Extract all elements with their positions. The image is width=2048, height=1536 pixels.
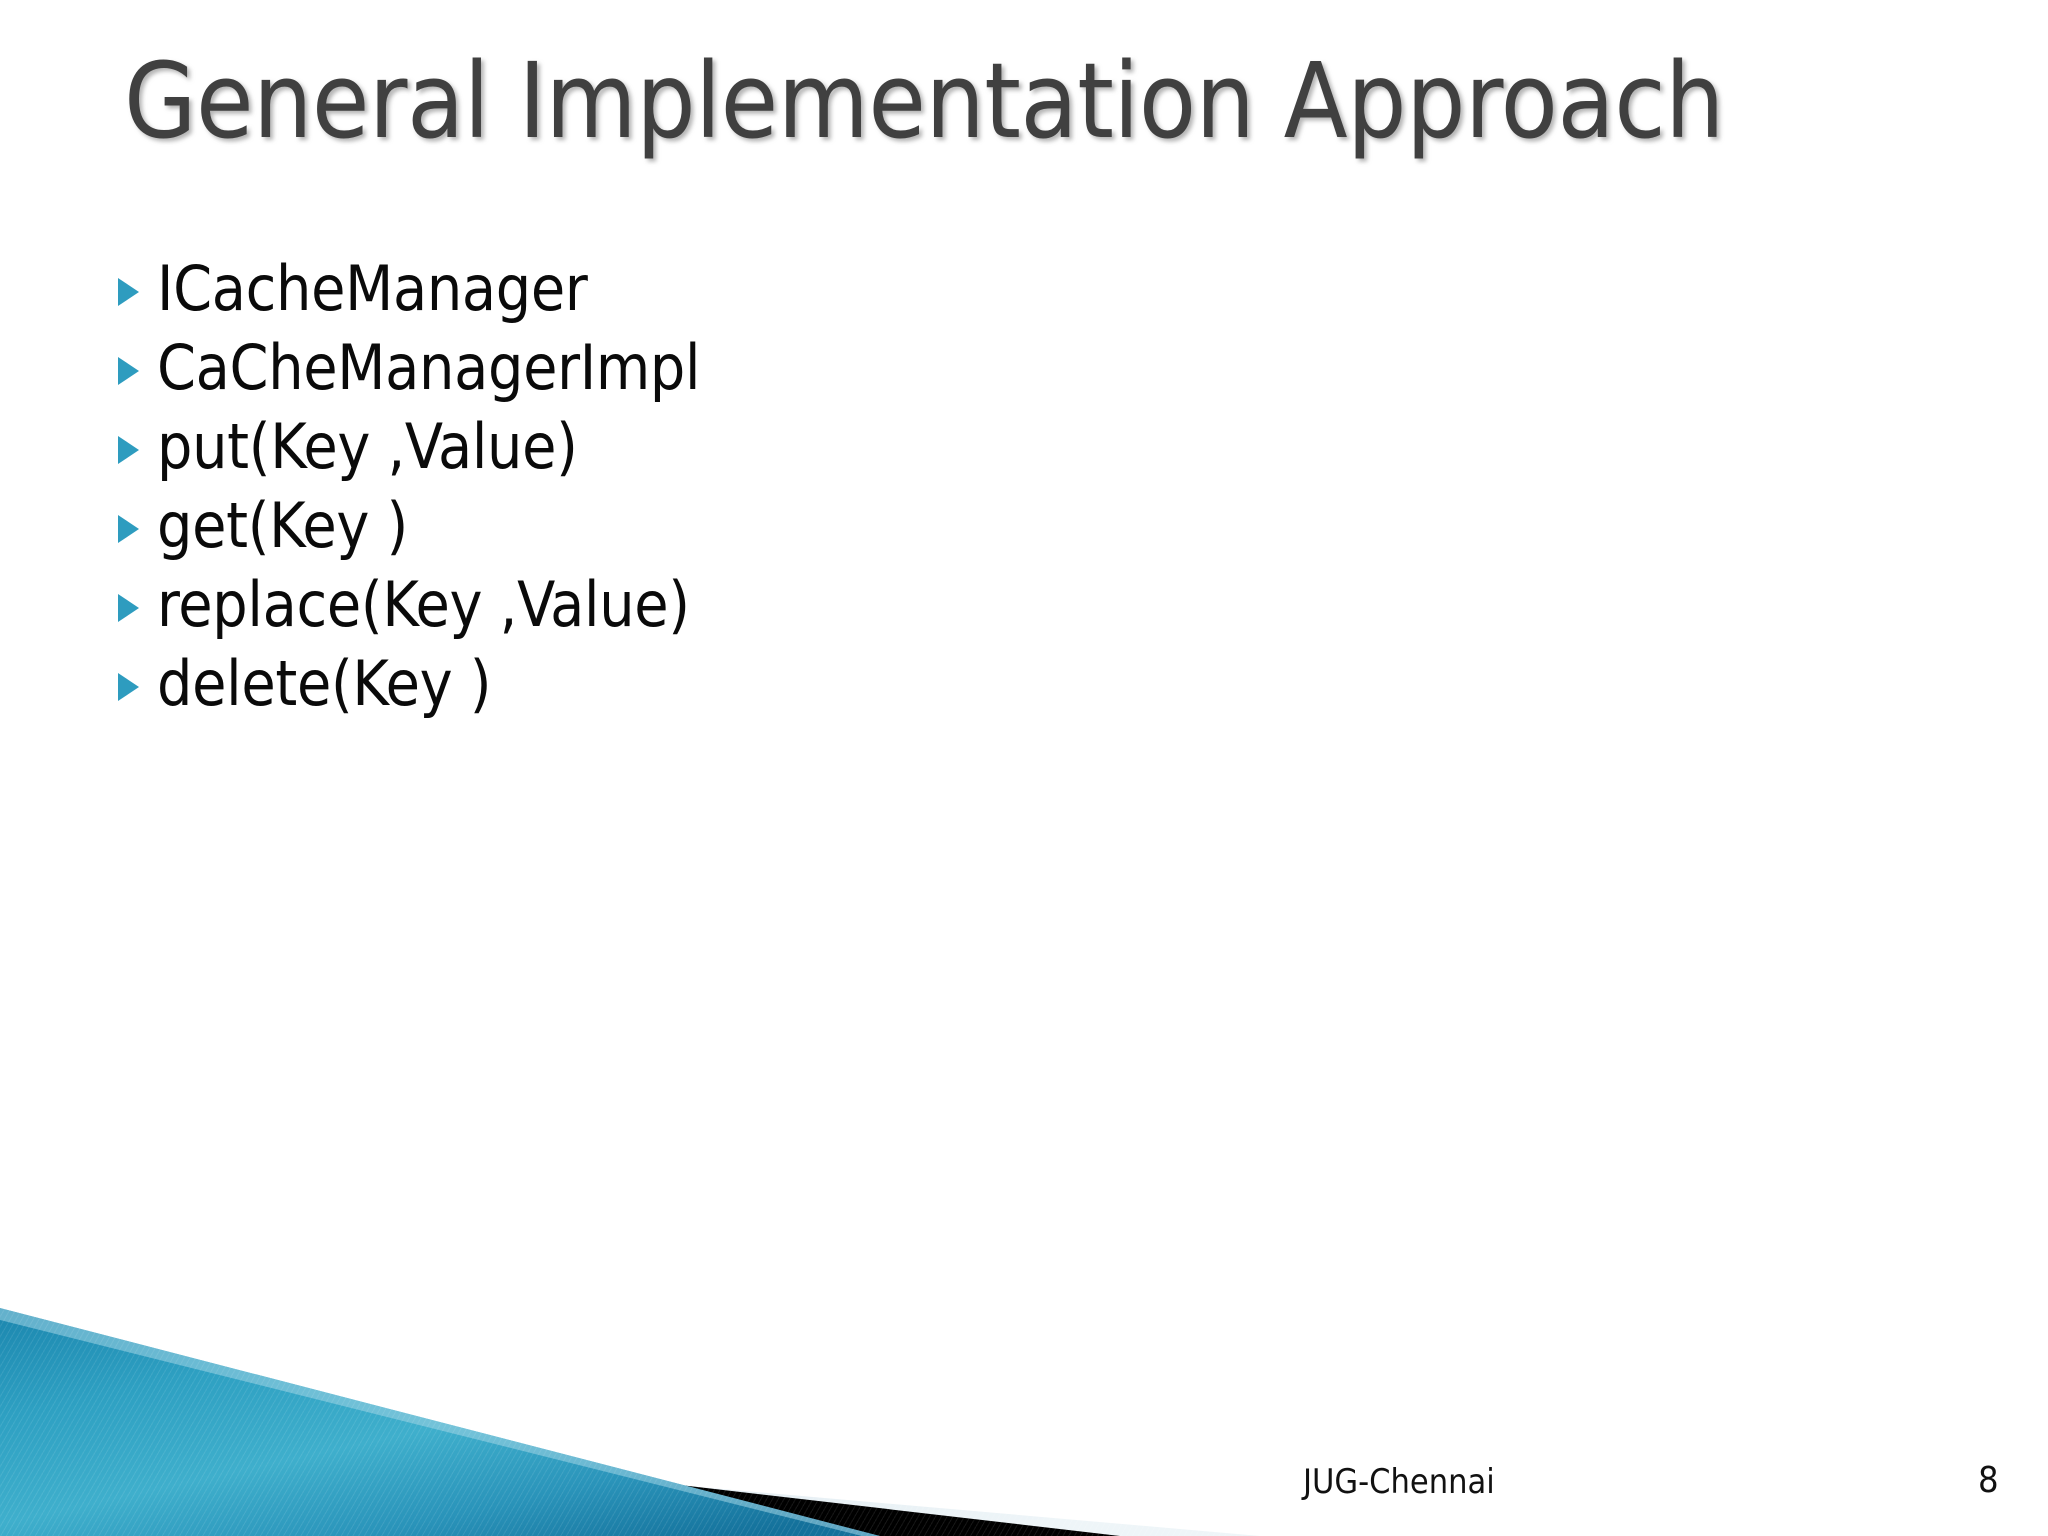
list-item-label: replace(Key ,Value) — [157, 574, 690, 636]
triangle-bullet-icon — [110, 436, 157, 464]
list-item: put(Key ,Value) — [110, 410, 1810, 489]
triangle-bullet-icon — [110, 594, 157, 622]
list-item-label: put(Key ,Value) — [157, 416, 578, 478]
triangle-bullet-icon — [110, 515, 157, 543]
list-item-label: delete(Key ) — [157, 653, 491, 715]
list-item-label: get(Key ) — [157, 495, 408, 557]
list-item: get(Key ) — [110, 489, 1810, 568]
triangle-bullet-icon — [110, 357, 157, 385]
page-number: 8 — [1978, 1460, 1999, 1501]
corner-decoration-texture — [0, 1286, 1260, 1536]
triangle-bullet-icon — [110, 278, 157, 306]
page-title: General Implementation Approach — [124, 36, 1944, 166]
triangle-bullet-icon — [110, 673, 157, 701]
list-item: ICacheManager — [110, 252, 1810, 331]
list-item-label: ICacheManager — [157, 258, 588, 320]
list-item: delete(Key ) — [110, 647, 1810, 726]
diagonal-bands-shape — [0, 1286, 1260, 1536]
list-item: replace(Key ,Value) — [110, 568, 1810, 647]
footer-organization: JUG-Chennai — [1303, 1462, 1495, 1502]
list-item-label: CaCheManagerImpl — [157, 337, 700, 399]
bullet-list: ICacheManager CaCheManagerImpl put(Key ,… — [110, 252, 1810, 726]
corner-decoration-graphic — [0, 1286, 1260, 1536]
list-item: CaCheManagerImpl — [110, 331, 1810, 410]
presentation-slide: General Implementation Approach ICacheMa… — [0, 0, 2048, 1536]
